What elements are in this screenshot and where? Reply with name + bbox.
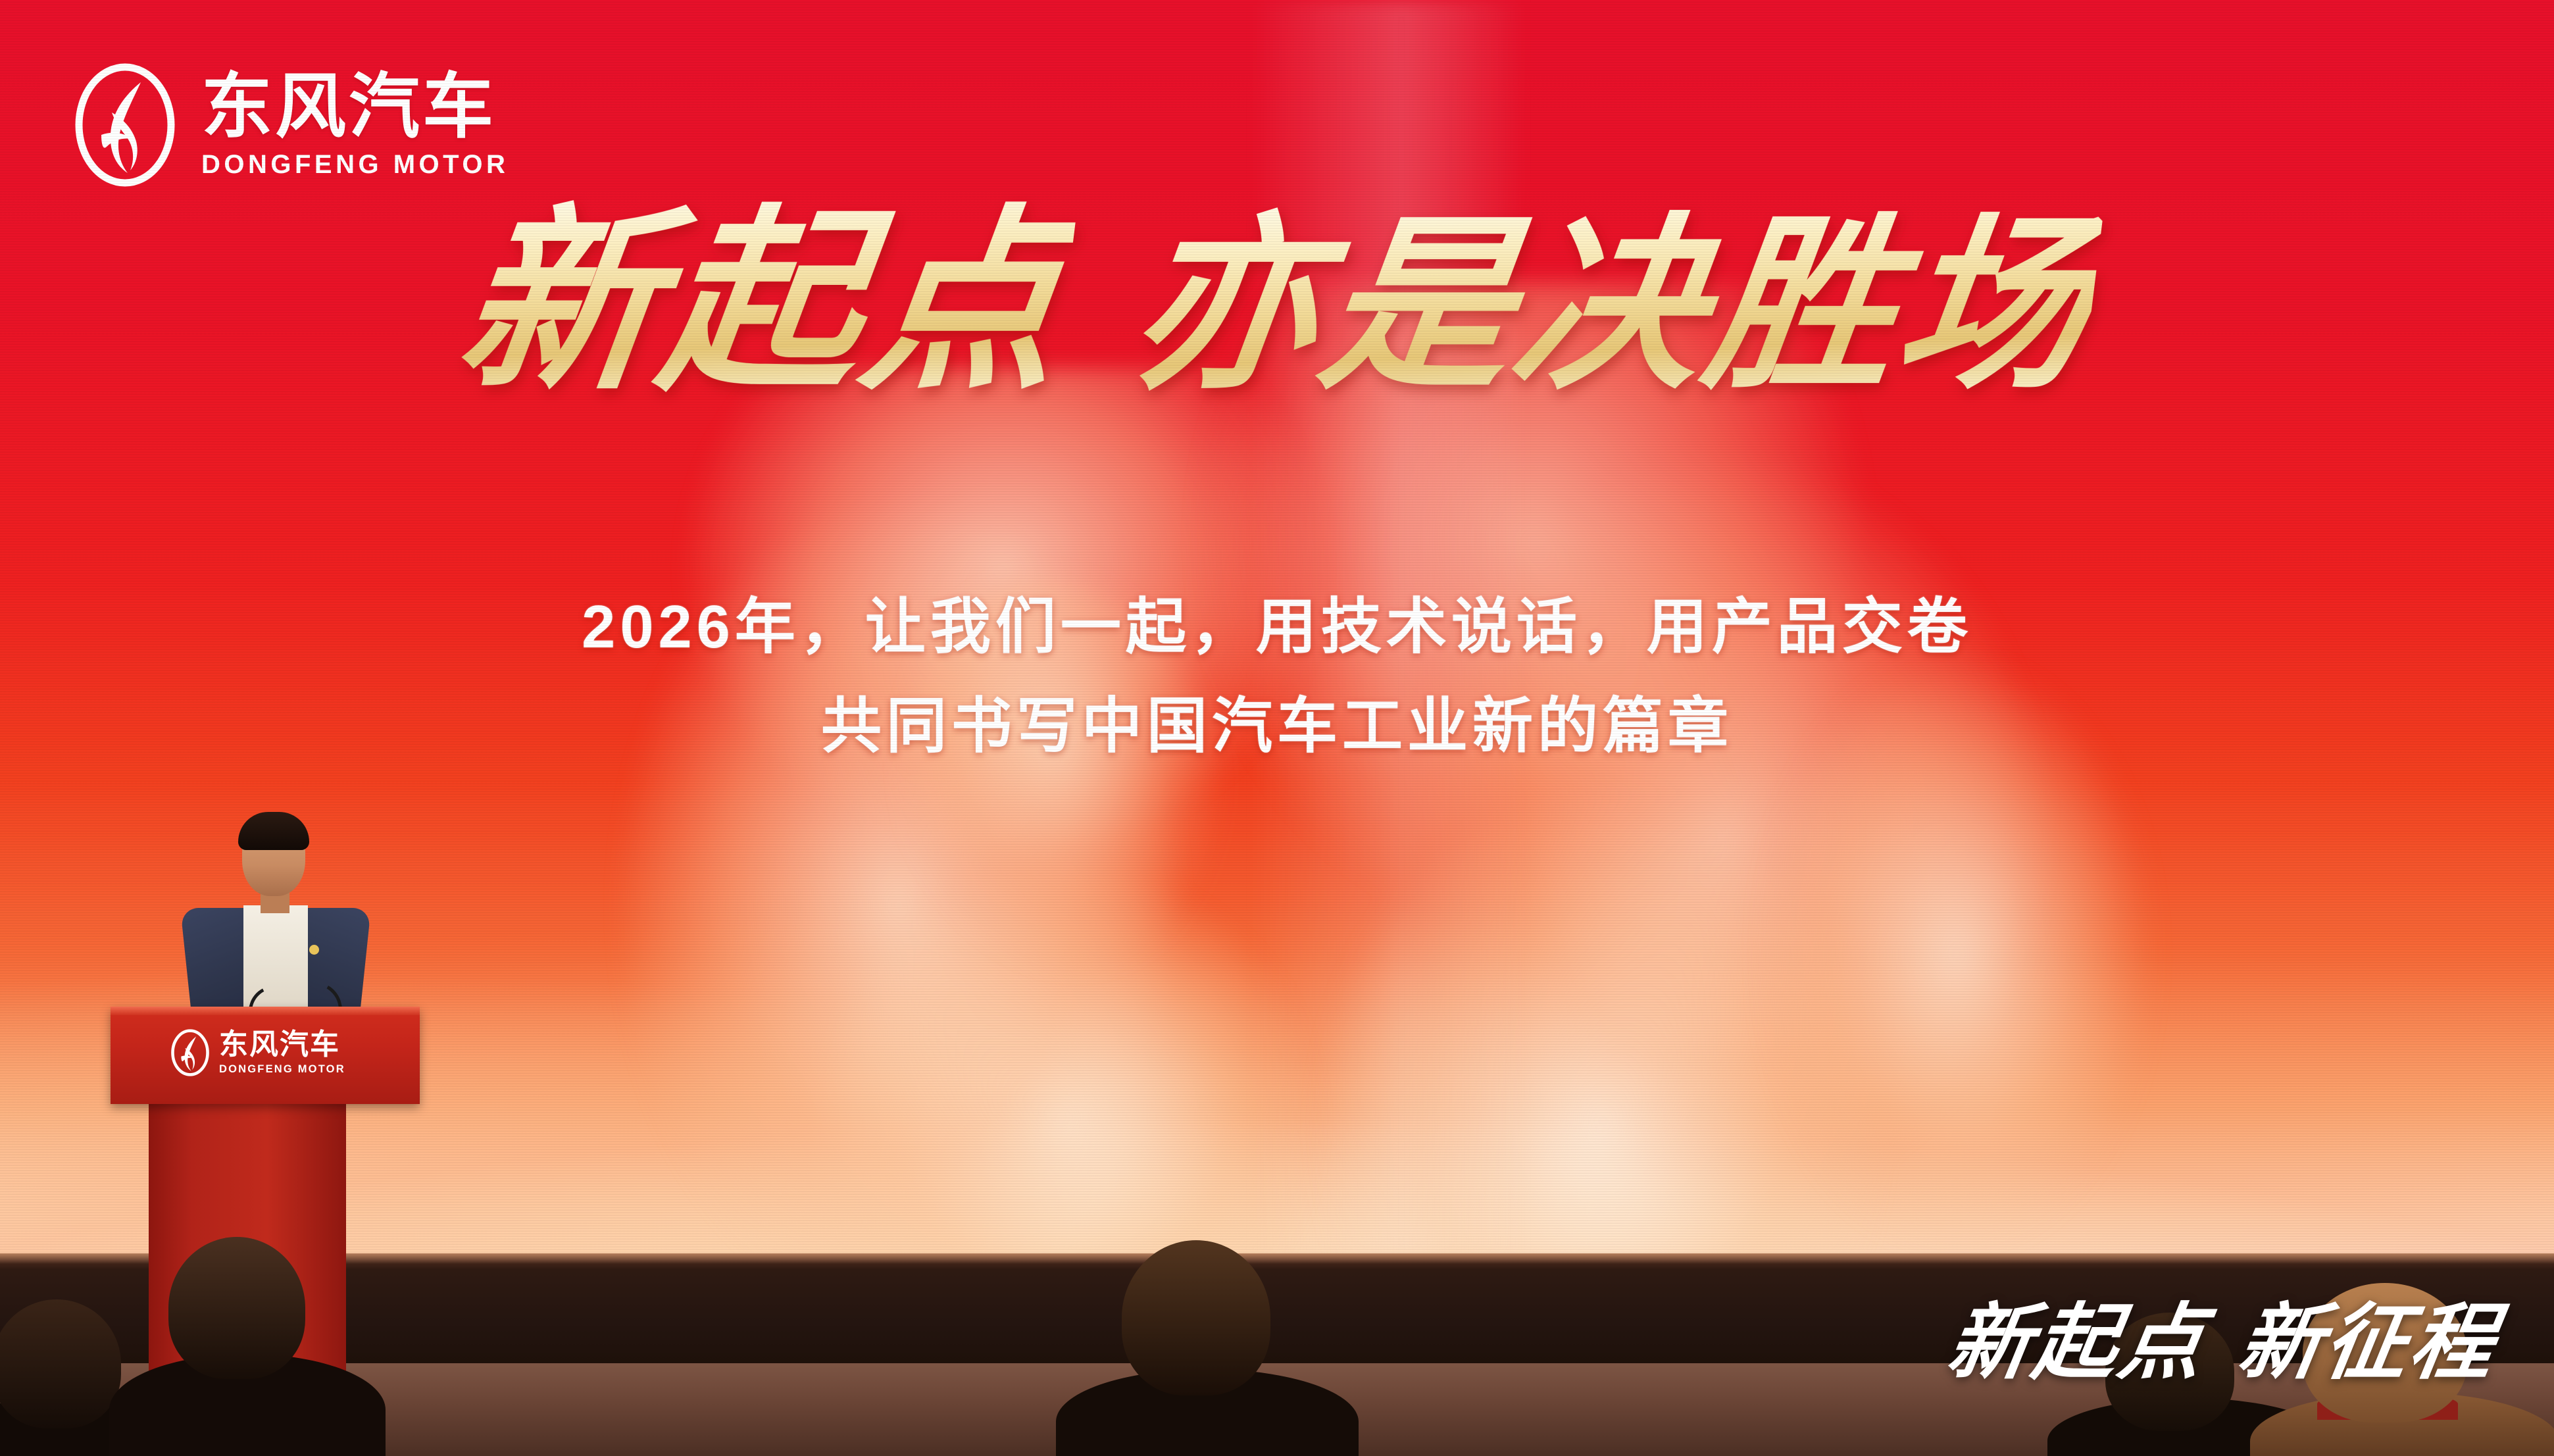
handshake-left-hand-image (566, 368, 1322, 1258)
speaker-hair (238, 812, 309, 850)
audience-head (168, 1237, 305, 1379)
screen-headline: 新起点 亦是决胜场 (0, 197, 2554, 405)
audience-head (0, 1299, 121, 1428)
podium-name-cn: 东风汽车 (219, 1030, 345, 1059)
dongfeng-swirl-logo-icon (170, 1029, 211, 1076)
podium-name-en: DONGFENG MOTOR (219, 1063, 345, 1076)
handshake-thumb-shape (866, 551, 1266, 1041)
audience-member (138, 1237, 355, 1456)
audience-member (1082, 1240, 1326, 1456)
podium-wordmark: 东风汽车 DONGFENG MOTOR (219, 1030, 345, 1076)
screen-glare-sweep (1250, 0, 1526, 1258)
podium-front-panel: 东风汽车 DONGFENG MOTOR (111, 1007, 420, 1104)
audience-member (2257, 1283, 2540, 1456)
brand-name-en: DONGFENG MOTOR (201, 150, 509, 180)
headline-part-1: 新起点 (449, 197, 1079, 405)
subtitle-line-2: 共同书写中国汽车工业新的篇章 (0, 695, 2554, 759)
podium-brand-lockup: 东风汽车 DONGFENG MOTOR (170, 1029, 345, 1076)
headline-part-2: 亦是决胜场 (1120, 206, 2105, 403)
subtitle-line-1: 2026年，让我们一起，用技术说话，用产品交卷 (0, 595, 2554, 659)
speaker-lapel-pin (309, 945, 319, 955)
speaker-figure (170, 816, 367, 1033)
screen-subtitle-block: 2026年，让我们一起，用技术说话，用产品交卷 共同书写中国汽车工业新的篇章 (0, 595, 2554, 758)
audience-head (2303, 1283, 2467, 1422)
dongfeng-swirl-logo-icon (72, 63, 178, 188)
event-photo-scene: 东风汽车 DONGFENG MOTOR 新起点 亦是决胜场 2026年，让我们一… (0, 0, 2554, 1456)
audience-head (1122, 1240, 1270, 1395)
brand-wordmark: 东风汽车 DONGFENG MOTOR (201, 70, 509, 179)
handshake-wrist-shape (1763, 645, 2224, 1258)
dongfeng-brand-lockup: 东风汽车 DONGFENG MOTOR (72, 63, 509, 188)
podium-top-lip (111, 1007, 420, 1015)
handshake-right-hand-image (1178, 283, 2059, 1258)
brand-name-cn: 东风汽车 (201, 70, 509, 143)
audience-head (2105, 1313, 2234, 1431)
